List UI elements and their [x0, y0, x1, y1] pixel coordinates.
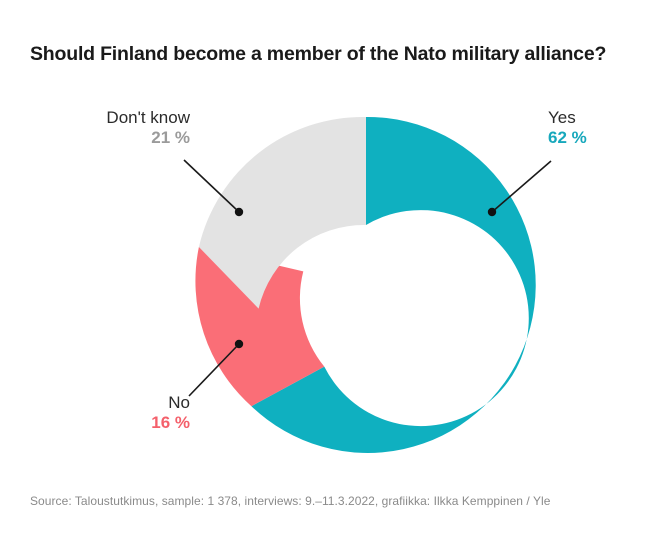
slice-label-yes: Yes 62 %	[548, 108, 587, 148]
slice-label-no: No 16 %	[151, 393, 190, 433]
slice-label-dont-know-name: Don't know	[106, 108, 190, 128]
slice-label-dont-know-value: 21 %	[106, 128, 190, 148]
slice-label-no-value: 16 %	[151, 413, 190, 433]
slice-label-no-name: No	[151, 393, 190, 413]
slice-label-yes-name: Yes	[548, 108, 587, 128]
slice-label-dont-know: Don't know 21 %	[106, 108, 190, 148]
donut-chart	[0, 0, 670, 480]
source-note: Source: Taloustutkimus, sample: 1 378, i…	[30, 494, 550, 508]
slice-label-yes-value: 62 %	[548, 128, 587, 148]
donut-chart-svg	[0, 0, 670, 480]
chart-page: Should Finland become a member of the Na…	[0, 0, 670, 546]
